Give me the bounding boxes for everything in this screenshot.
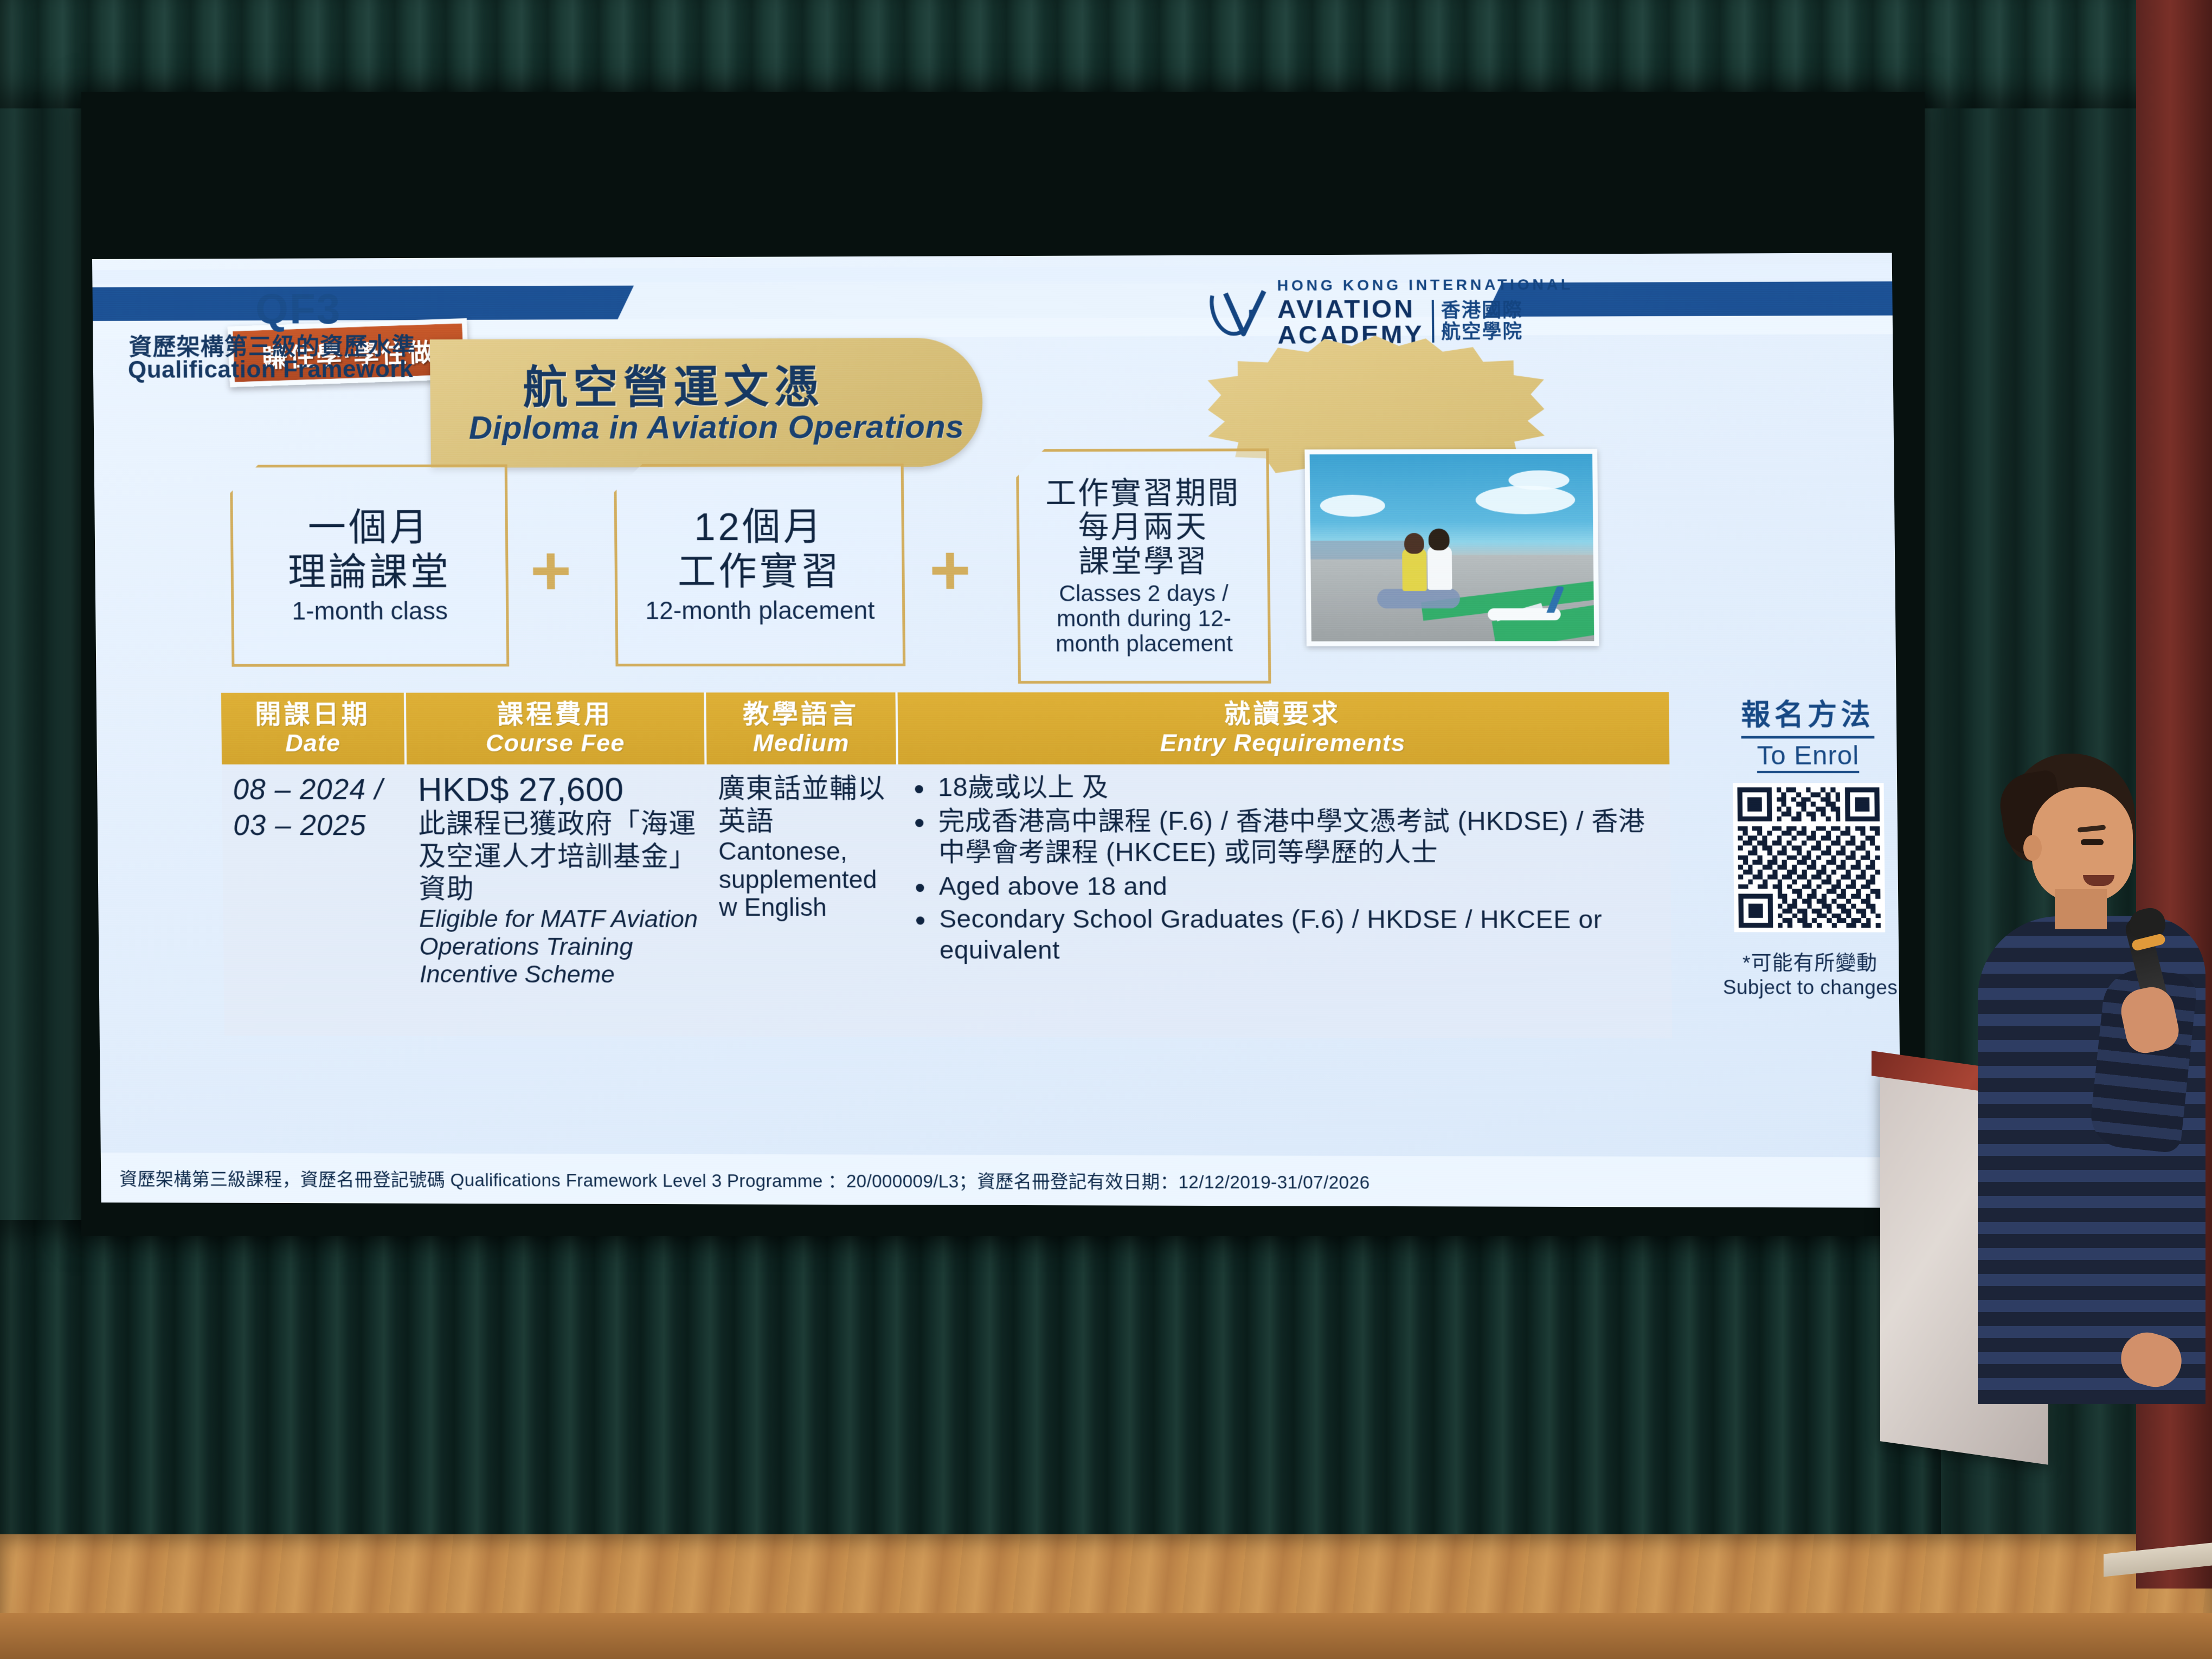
header-date: 開課日期 Date — [221, 693, 407, 764]
table-header-row: 開課日期 Date 課程費用 Course Fee 教學語言 Medium 就讀… — [221, 692, 1670, 764]
structure-box-monthly-classes: 工作實習期間 每月兩天 課堂學習 Classes 2 days / month … — [1016, 448, 1271, 684]
stage-curtain-lower — [0, 1220, 1941, 1556]
title-banner: 航空營運文憑 Diploma in Aviation Operations — [430, 338, 983, 468]
box3-line2: 每月兩天 — [1078, 510, 1208, 545]
plus-icon-1: + — [530, 546, 571, 595]
header-date-en: Date — [285, 729, 340, 756]
header-entry-requirements: 就讀要求 Entry Requirements — [898, 692, 1670, 764]
table-body-row: 08 – 2024 / 03 – 2025 HKD$ 27,600 此課程已獲政… — [222, 764, 1672, 1038]
date-line-2: 03 – 2025 — [233, 808, 399, 844]
slide-header-band — [92, 264, 1892, 284]
box3-line1: 工作實習期間 — [1045, 475, 1240, 510]
box3-english: Classes 2 days / month during 12-month p… — [1026, 581, 1261, 657]
academy-logo: HONG KONG INTERNATIONAL AVIATION ACADEMY… — [1207, 277, 1574, 348]
cell-course-fee: HKD$ 27,600 此課程已獲政府「海運及空運人才培訓基金」資助 Eligi… — [407, 764, 709, 1037]
enrol-title-en: To Enrol — [1757, 741, 1859, 773]
box2-line1: 12個月 — [694, 505, 825, 550]
plus-icon-2: + — [929, 545, 972, 595]
subject-to-change-note-cn: *可能有所變動 — [1718, 947, 1901, 976]
slide-footer: 資歷架構第三級課程，資歷名冊登記號碼 Qualifications Framew… — [101, 1153, 1901, 1208]
medium-english: Cantonese, supplemented w English — [718, 838, 891, 922]
enrol-title-cn: 報名方法 — [1741, 692, 1874, 738]
cell-entry-requirements: 18歲或以上 及 完成香港高中課程 (F.6) / 香港中學文憑考試 (HKDS… — [898, 764, 1672, 1038]
requirement-item: 18歲或以上 及 — [909, 772, 1661, 803]
students-runway-photo — [1304, 449, 1599, 646]
presenter — [1963, 754, 2212, 1540]
structure-box-placement: 12個月 工作實習 12-month placement — [614, 464, 905, 666]
header-chevron-left — [509, 286, 634, 320]
logo-cn-line-2: 航空學院 — [1441, 321, 1523, 343]
logo-line-1: HONG KONG INTERNATIONAL — [1277, 276, 1574, 294]
box1-line2: 理論課堂 — [288, 550, 452, 595]
logo-cn-line-1: 香港國際 — [1441, 299, 1523, 321]
fee-chinese-note: 此課程已獲政府「海運及空運人才培訓基金」資助 — [418, 807, 699, 905]
enrolment-panel: 報名方法 To Enrol — [1716, 692, 1901, 999]
enrolment-qr-code[interactable] — [1733, 783, 1885, 932]
header-fee-en: Course Fee — [486, 729, 625, 756]
box1-english: 1-month class — [292, 597, 448, 625]
requirement-item: Secondary School Graduates (F.6) / HKDSE… — [911, 904, 1663, 966]
header-date-cn: 開課日期 — [255, 701, 370, 730]
header-entry-en: Entry Requirements — [1160, 729, 1405, 756]
header-entry-cn: 就讀要求 — [1224, 700, 1341, 729]
medium-chinese: 廣東話並輔以英語 — [718, 772, 890, 838]
stage-floor-edge — [0, 1613, 2212, 1659]
title-english: Diploma in Aviation Operations — [468, 408, 964, 446]
header-medium-cn: 教學語言 — [743, 700, 859, 729]
course-details-table: 開課日期 Date 課程費用 Course Fee 教學語言 Medium 就讀… — [221, 692, 1672, 1038]
logo-aviation: AVIATION — [1277, 294, 1415, 323]
requirement-item: 完成香港高中課程 (F.6) / 香港中學文憑考試 (HKDSE) / 香港中學… — [910, 806, 1662, 869]
qf-english-label: Qualification Framework — [128, 356, 414, 383]
title-chinese: 航空營運文憑 — [523, 350, 825, 416]
box2-line2: 工作實習 — [677, 550, 841, 595]
course-structure-row: 一個月 理論課堂 1-month class + 12個月 工作實習 12-mo… — [94, 461, 1896, 693]
subject-to-change-note-en: Subject to changes — [1719, 976, 1901, 999]
requirements-list: 18歲或以上 及 完成香港高中課程 (F.6) / 香港中學文憑考試 (HKDS… — [909, 772, 1662, 966]
header-course-fee: 課程費用 Course Fee — [406, 692, 707, 764]
fee-english-note: Eligible for MATF Aviation Operations Tr… — [419, 905, 700, 989]
box1-line1: 一個月 — [307, 506, 430, 550]
header-fee-cn: 課程費用 — [497, 700, 613, 729]
qf-level-label: QF3 — [255, 284, 342, 334]
structure-box-classroom: 一個月 理論課堂 1-month class — [230, 464, 509, 666]
footer-text: 資歷架構第三級課程，資歷名冊登記號碼 Qualifications Framew… — [119, 1165, 1370, 1194]
box3-line3: 課堂學習 — [1078, 544, 1208, 579]
date-line-1: 08 – 2024 / — [233, 772, 398, 808]
logo-academy: ACADEMY — [1277, 320, 1424, 349]
cell-medium: 廣東話並輔以英語 Cantonese, supplemented w Engli… — [706, 764, 901, 1037]
requirement-item: Aged above 18 and — [910, 871, 1662, 902]
header-medium: 教學語言 Medium — [706, 692, 898, 764]
presentation-slide: HONG KONG INTERNATIONAL AVIATION ACADEMY… — [92, 253, 1901, 1207]
cell-date: 08 – 2024 / 03 – 2025 — [222, 764, 409, 1036]
fee-amount: HKD$ 27,600 — [417, 772, 698, 807]
aviation-swoosh-icon — [1207, 287, 1269, 338]
header-medium-en: Medium — [753, 729, 850, 756]
box2-english: 12-month placement — [645, 596, 875, 625]
